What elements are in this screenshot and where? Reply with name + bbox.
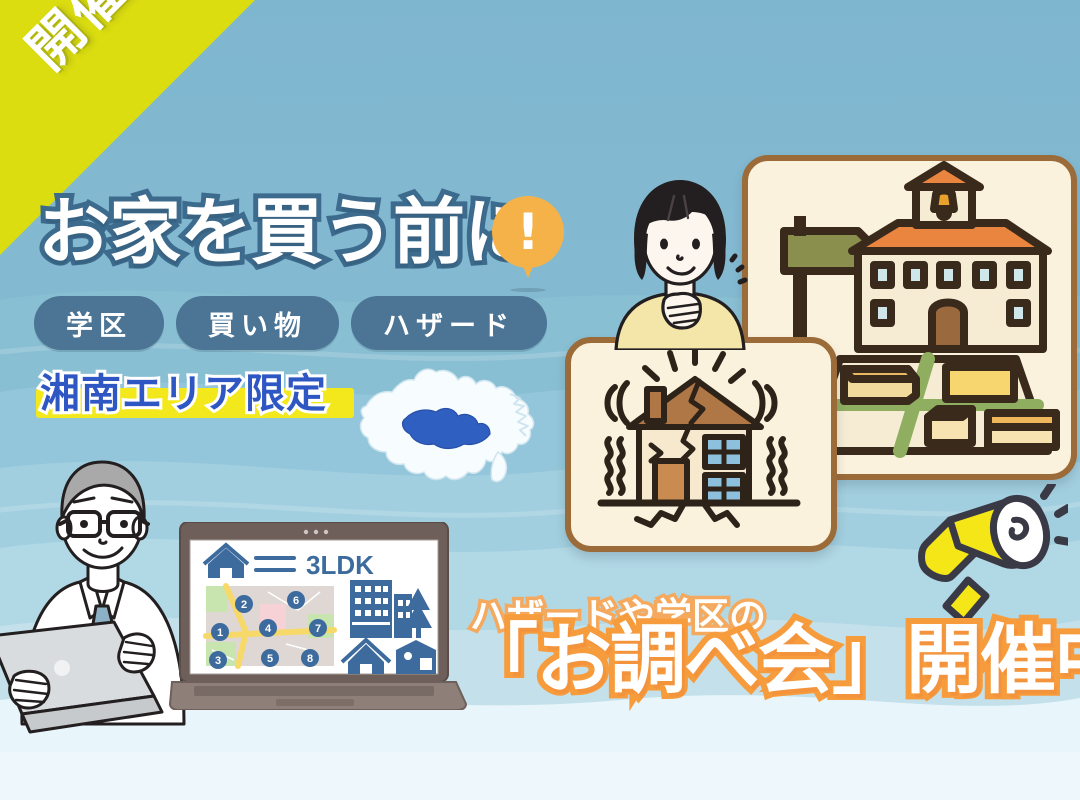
hazard-illustration (571, 343, 831, 546)
svg-text:8: 8 (307, 653, 313, 665)
pin-shadow (510, 288, 546, 292)
laptop-camera-dots (304, 530, 328, 534)
svg-text:3: 3 (215, 655, 221, 667)
area-restriction-note: 湘南エリア限定 (34, 366, 327, 422)
svg-text:2: 2 (241, 599, 247, 611)
badge-label: 学区 (66, 304, 132, 343)
room-layout-label: 3LDK (306, 550, 374, 580)
neighborhood-map-icon (808, 359, 1056, 451)
laptop-trackpad (276, 699, 354, 706)
megaphone-icon (916, 484, 1068, 636)
svg-text:1: 1 (217, 627, 223, 639)
map-panel[interactable]: 1 2 3 4 5 6 7 8 (206, 586, 334, 669)
feature-badge-row: 学区 買い物 ハザード (34, 296, 547, 350)
cta-title: 「お調べ会」開催中 (462, 622, 1080, 698)
banner-canvas: 開催中 お家を買う前に ! 学区 買い物 ハザード 湘南エリア限定 (0, 0, 1080, 800)
badge-label: ハザード (383, 304, 515, 343)
impact-burst-icon (645, 347, 743, 381)
svg-text:4: 4 (265, 623, 272, 635)
ground-fissure-icon (637, 505, 737, 525)
map-pin-exclamation-icon: ! (492, 196, 564, 288)
school-building-icon (852, 165, 1048, 349)
laptop-device: 3LDK 1 2 3 4 (168, 522, 468, 710)
svg-text:6: 6 (293, 595, 299, 607)
pin-exclamation-glyph: ! (492, 196, 564, 268)
hazard-card (565, 337, 837, 552)
badge-shopping[interactable]: 買い物 (176, 296, 339, 350)
page-title: お家を買う前に (38, 196, 535, 268)
woman-thinking-illustration (604, 172, 754, 350)
svg-text:5: 5 (267, 653, 273, 665)
svg-text:7: 7 (315, 623, 321, 635)
badge-school-district[interactable]: 学区 (34, 296, 164, 350)
laptop-keys (194, 686, 434, 696)
area-restriction-label: 湘南エリア限定 (34, 366, 327, 422)
kanagawa-prefecture-map (358, 358, 538, 490)
badge-label: 買い物 (208, 304, 307, 343)
badge-hazard[interactable]: ハザード (351, 296, 547, 350)
